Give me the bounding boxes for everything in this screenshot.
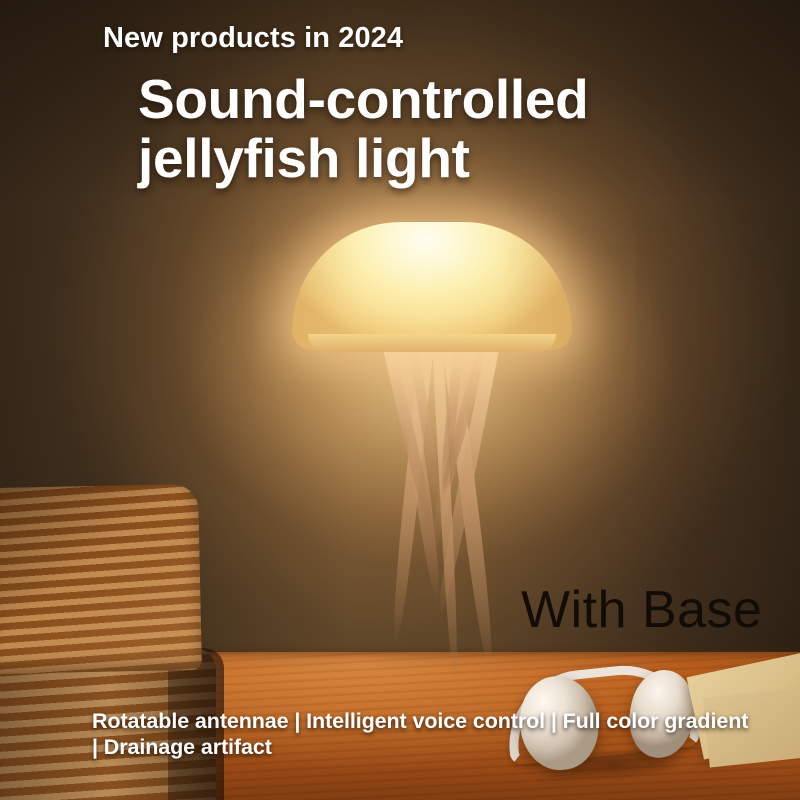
with-base-badge: With Base — [521, 580, 762, 640]
headline-line-1: Sound-controlled — [138, 70, 588, 129]
feature-list-text: Rotatable antennae | Intelligent voice c… — [92, 708, 752, 760]
lamp-dome-shading — [292, 222, 572, 350]
advertisement-canvas: New products in 2024 Sound-controlled je… — [0, 0, 800, 800]
page-title: Sound-controlled jellyfish light — [138, 70, 588, 189]
pillow-shading — [0, 484, 202, 674]
lamp-dome-lip — [308, 334, 556, 352]
lamp-tentacles — [282, 344, 582, 694]
headline-line-2: jellyfish light — [138, 129, 588, 188]
eyebrow-text: New products in 2024 — [103, 22, 403, 55]
